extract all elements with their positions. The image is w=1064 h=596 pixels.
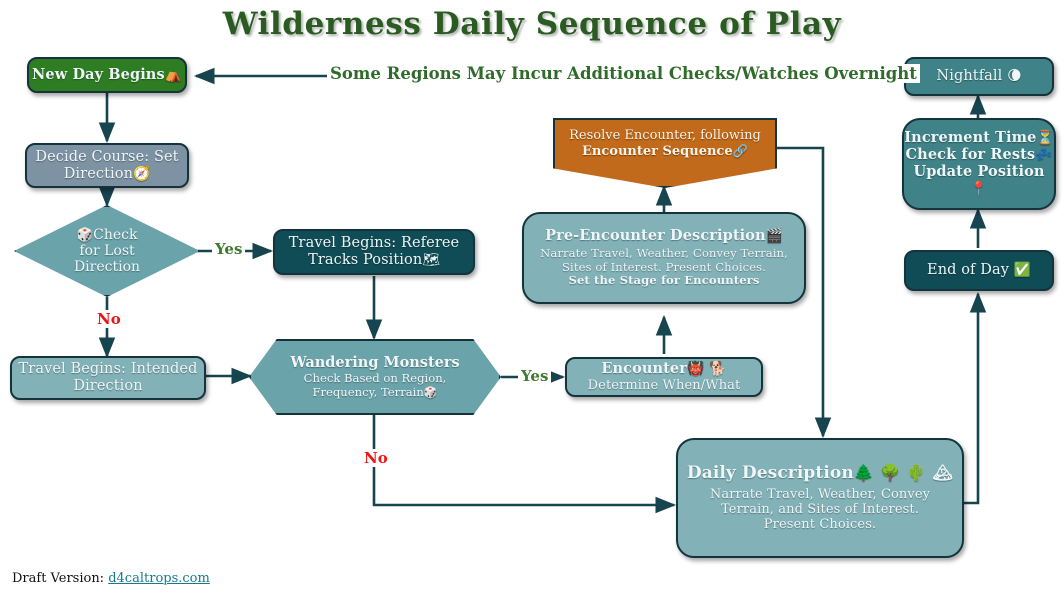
- node-new-day-label: New Day Begins⛺: [32, 67, 182, 84]
- footer: Draft Version: d4caltrops.com: [12, 571, 210, 586]
- tent-icon: ⛺: [165, 67, 182, 83]
- hourglass-icon: ⏳: [1036, 130, 1053, 146]
- decide-course-line2: Direction🧭: [64, 166, 151, 183]
- clapperboard-icon: 🎬: [766, 228, 783, 244]
- increment-line3: Update Position 📍: [904, 164, 1054, 198]
- ogre-icon: 👹: [687, 361, 704, 377]
- wandering-title: Wandering Monsters: [290, 354, 459, 371]
- link-icon: 🔗: [733, 144, 748, 158]
- edge-label-yes-lost: Yes: [212, 240, 245, 258]
- travel-referee-line2: Tracks Position🗺: [308, 252, 440, 269]
- travel-intended-line2: Direction: [73, 378, 142, 395]
- nightfall-label: Nightfall 🌘: [936, 68, 1021, 85]
- node-decide-course[interactable]: Decide Course: Set Direction🧭: [25, 143, 189, 188]
- edge-label-no-lost: No: [94, 310, 124, 328]
- node-daily-description[interactable]: Daily Description🌲 🌳 🌵 🏔 Narrate Travel,…: [676, 438, 964, 558]
- footer-prefix: Draft Version:: [12, 571, 104, 586]
- footer-link[interactable]: d4caltrops.com: [108, 571, 210, 586]
- flowchart-canvas: Wilderness Daily Sequence of Play: [0, 0, 1064, 596]
- check-mark-icon: ✅: [1014, 262, 1031, 278]
- resolve-line2: Encounter Sequence🔗: [582, 144, 748, 160]
- dice-icon: 🎲: [77, 228, 94, 243]
- pre-encounter-title: Pre-Encounter Description🎬: [545, 228, 783, 245]
- dog-icon: 🐕: [709, 361, 726, 377]
- zzz-icon: 💤: [1035, 147, 1052, 163]
- pre-encounter-line2: Sites of Interest. Present Choices.: [562, 261, 766, 274]
- resolve-line1: Resolve Encounter, following: [569, 128, 761, 144]
- node-travel-intended[interactable]: Travel Begins: Intended Direction: [10, 356, 206, 400]
- end-of-day-label: End of Day ✅: [927, 262, 1031, 279]
- compass-icon: 🧭: [133, 166, 150, 182]
- moon-icon: 🌘: [1007, 68, 1021, 84]
- wandering-line1: Check Based on Region,: [304, 372, 447, 386]
- daily-description-line3: Present Choices.: [764, 517, 876, 532]
- node-nightfall[interactable]: Nightfall 🌘: [904, 57, 1054, 96]
- mountain-icon: 🏔: [933, 463, 954, 482]
- cactus-icon: 🌵: [906, 463, 926, 482]
- daily-description-title: Daily Description🌲 🌳 🌵 🏔: [687, 464, 953, 484]
- edge-label-overnight: Some Regions May Incur Additional Checks…: [327, 64, 920, 83]
- pin-icon: 📍: [970, 181, 987, 197]
- node-increment-time[interactable]: Increment Time⏳ Check for Rests💤 Update …: [902, 118, 1056, 210]
- node-wandering-monsters[interactable]: Wandering Monsters Check Based on Region…: [249, 339, 501, 415]
- evergreen-tree-icon: 🌲: [854, 463, 874, 482]
- node-travel-referee[interactable]: Travel Begins: Referee Tracks Position🗺: [273, 229, 475, 275]
- map-icon: 🗺: [422, 252, 440, 268]
- dice-icon: 🎲: [424, 386, 438, 399]
- daily-description-line1: Narrate Travel, Weather, Convey: [710, 487, 930, 502]
- travel-intended-line1: Travel Begins: Intended: [19, 361, 198, 378]
- increment-line1: Increment Time⏳: [904, 130, 1053, 147]
- pre-encounter-line3: Set the Stage for Encounters: [568, 274, 759, 287]
- deciduous-tree-icon: 🌳: [880, 463, 900, 482]
- travel-referee-line1: Travel Begins: Referee: [289, 235, 459, 252]
- decide-course-line1: Decide Course: Set: [35, 149, 178, 166]
- check-lost-line2: for Lost: [79, 243, 134, 259]
- pre-encounter-line1: Narrate Travel, Weather, Convey Terrain,: [540, 247, 788, 260]
- edge-label-yes-wander: Yes: [518, 367, 551, 385]
- wandering-line2: Frequency, Terrain🎲: [312, 386, 437, 400]
- check-lost-line1: 🎲Check: [77, 227, 138, 243]
- daily-description-line2: Terrain, and Sites of Interest.: [721, 502, 919, 517]
- node-new-day-begins[interactable]: New Day Begins⛺: [27, 57, 187, 93]
- node-encounter[interactable]: Encounter👹 🐕 Determine When/What: [565, 357, 763, 397]
- encounter-title: Encounter👹 🐕: [601, 361, 726, 378]
- edge-label-no-wander: No: [361, 449, 391, 467]
- encounter-line1: Determine When/What: [588, 378, 741, 393]
- increment-line2: Check for Rests💤: [906, 147, 1053, 164]
- node-pre-encounter-description[interactable]: Pre-Encounter Description🎬 Narrate Trave…: [522, 212, 806, 304]
- check-lost-line3: Direction: [74, 259, 140, 275]
- node-end-of-day[interactable]: End of Day ✅: [904, 250, 1054, 291]
